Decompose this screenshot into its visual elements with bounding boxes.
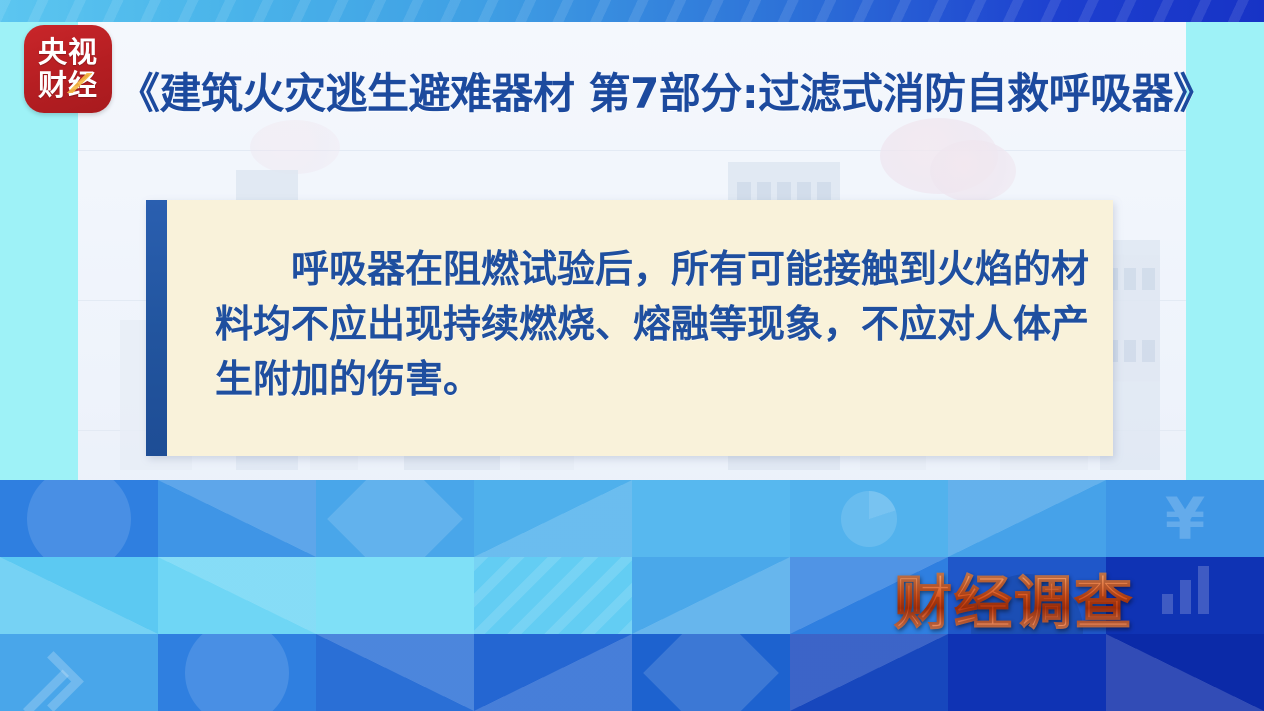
mosaic-tri-tr-shape — [474, 634, 632, 711]
mosaic-tri-tr-shape — [632, 557, 790, 634]
mosaic-tri-tr-shape — [474, 480, 632, 557]
spark-icon — [66, 73, 92, 93]
mosaic-tile — [0, 557, 158, 634]
header: 央视 财经 《建筑火灾逃生避难器材 第7部分:过滤式消防自救呼吸器》 — [0, 22, 1264, 142]
cctv-finance-logo: 央视 财经 — [24, 25, 112, 113]
quote-text: 呼吸器在阻燃试验后，所有可能接触到火焰的材料均不应出现持续燃烧、熔融等现象，不应… — [215, 242, 1095, 407]
mosaic-tile — [316, 480, 474, 557]
mosaic-tile — [474, 480, 632, 557]
mosaic-circ-shape — [158, 634, 316, 711]
mosaic-dia-shape — [316, 480, 474, 557]
quote-card-body: 呼吸器在阻燃试验后，所有可能接触到火焰的材料均不应出现持续燃烧、熔融等现象，不应… — [167, 200, 1113, 456]
quote-accent-bar — [146, 200, 167, 456]
mosaic-tri-br-shape — [158, 557, 316, 634]
mosaic-arrow-shape — [0, 634, 158, 711]
mosaic-tri-bl-shape — [948, 480, 1106, 557]
mosaic-tile: ¥ — [1106, 480, 1264, 557]
mosaic-dia-shape — [632, 634, 790, 711]
mosaic-tile — [790, 480, 948, 557]
mosaic-yen-shape: ¥ — [1106, 480, 1264, 557]
top-gradient-ribbon — [0, 0, 1264, 22]
mosaic-tile — [158, 480, 316, 557]
program-logo-text: 财经调查 — [894, 556, 1134, 640]
mosaic-tile — [0, 634, 158, 711]
broadcast-frame: 央视 财经 《建筑火灾逃生避难器材 第7部分:过滤式消防自救呼吸器》 呼吸器在阻… — [0, 0, 1264, 711]
mosaic-tile — [158, 634, 316, 711]
mosaic-pie-shape — [790, 480, 948, 557]
quote-card: 呼吸器在阻燃试验后，所有可能接触到火焰的材料均不应出现持续燃烧、熔融等现象，不应… — [146, 200, 1113, 456]
mosaic-tile — [948, 480, 1106, 557]
mosaic-tile — [632, 480, 790, 557]
program-logo: 财经调查 — [864, 560, 1164, 636]
mosaic-tile — [474, 634, 632, 711]
mosaic-tile — [948, 634, 1106, 711]
mosaic-tile — [158, 557, 316, 634]
mosaic-tri-tl-shape — [1106, 634, 1264, 711]
logo-line-1: 央视 — [38, 38, 98, 67]
mosaic-tile — [632, 634, 790, 711]
mosaic-tile — [632, 557, 790, 634]
mosaic-tile — [474, 557, 632, 634]
mosaic-tri-br-shape — [158, 480, 316, 557]
mosaic-stripes-shape — [474, 557, 632, 634]
mosaic-tile — [790, 634, 948, 711]
mosaic-circ-shape — [0, 480, 158, 557]
mosaic-tri-tl-shape — [0, 557, 158, 634]
mosaic-tri-bl-shape — [790, 634, 948, 711]
mosaic-tile — [1106, 634, 1264, 711]
mosaic-tile — [0, 480, 158, 557]
cloud-shape — [930, 140, 1016, 202]
mosaic-tile — [316, 557, 474, 634]
mosaic-tri-br-shape — [316, 634, 474, 711]
mosaic-tile — [316, 634, 474, 711]
page-title: 《建筑火灾逃生避难器材 第7部分:过滤式消防自救呼吸器》 — [118, 60, 1178, 121]
